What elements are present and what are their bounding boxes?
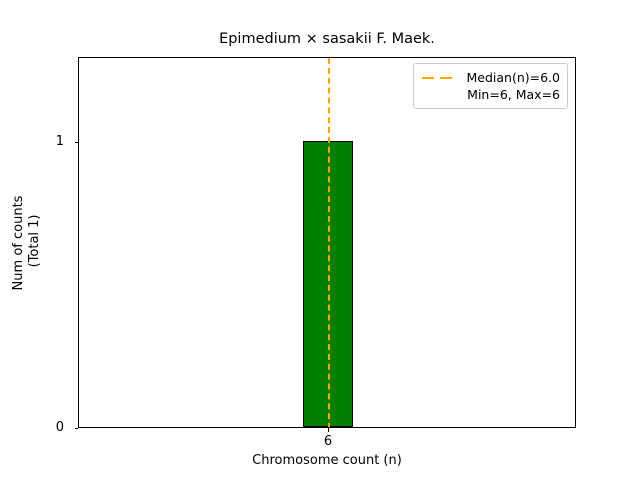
matplotlib-figure: Epimedium × sasakii F. Maek. Num of coun… [0, 0, 640, 480]
x-tick-label-6: 6 [313, 435, 343, 448]
y-axis-label-container: Num of counts (Total 1) [0, 0, 46, 480]
legend-label-median: Median(n)=6.0 [464, 70, 560, 85]
y-tick-label-1: 1 [48, 135, 64, 148]
dashed-line-icon [421, 71, 456, 85]
median-line [328, 58, 330, 427]
chart-title: Epimedium × sasakii F. Maek. [78, 30, 576, 48]
x-axis-label: Chromosome count (n) [78, 453, 576, 468]
plot-inner [79, 58, 575, 427]
legend[interactable]: Median(n)=6.0 Min=6, Max=6 [413, 63, 568, 109]
y-tick-label-0: 0 [48, 421, 64, 434]
plot-area [78, 57, 576, 428]
legend-entry-minmax: Min=6, Max=6 [421, 86, 560, 103]
y-axis-label: Num of counts (Total 1) [11, 23, 43, 463]
x-tick-mark-6 [328, 428, 329, 432]
legend-label-minmax: Min=6, Max=6 [464, 87, 560, 102]
legend-entry-median: Median(n)=6.0 [421, 69, 560, 86]
